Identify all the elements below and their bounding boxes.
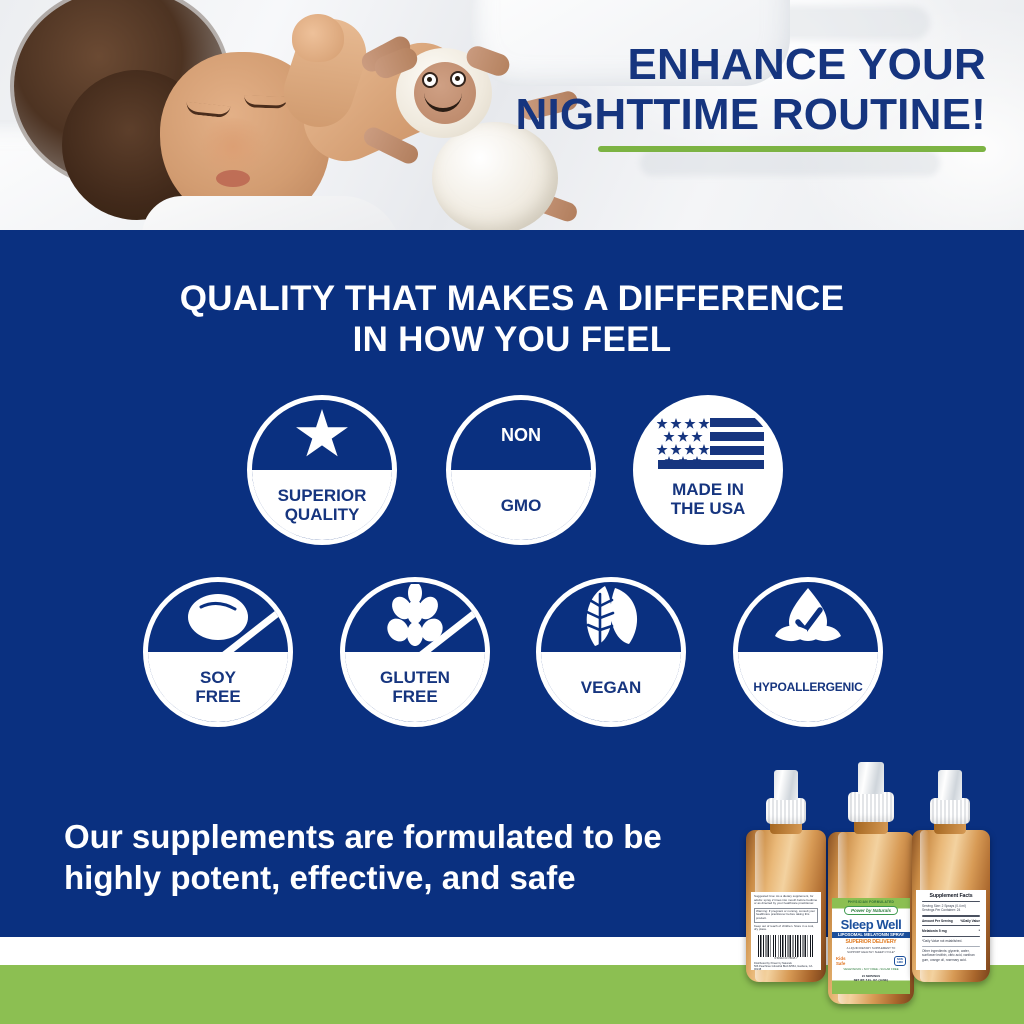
kids-safe-badge: Kids Safe — [836, 956, 846, 966]
panel-title: QUALITY THAT MAKES A DIFFERENCE IN HOW Y… — [0, 278, 1024, 360]
brand-logo-text: Power by Naturals — [845, 908, 897, 913]
badge-icon-area: NON — [451, 400, 591, 470]
bottle-left[interactable]: Suggested Use: As a dietary supplement, … — [746, 830, 826, 982]
child-shirt — [142, 196, 402, 230]
sheep-eye — [450, 71, 466, 87]
product-subtitle: LIPOSOMAL MELATONIN SPRAY — [832, 932, 910, 938]
badge-label: MADE IN THE USA — [638, 480, 778, 518]
badge-icon-area — [541, 582, 681, 652]
badge-label: GMO — [451, 470, 591, 540]
col-dv-header: %Daily Value — [960, 919, 980, 923]
badge-label: HYPOALLERGENIC — [738, 652, 878, 722]
warning-text: Warning: If pregnant or nursing, consult… — [754, 908, 818, 923]
hero-image: ENHANCE YOUR NIGHTTIME ROUTINE! — [0, 0, 1024, 230]
bottle-left-sprayer[interactable] — [774, 770, 798, 800]
storage-text: Keep out of reach of children. Store in … — [754, 925, 818, 932]
child-mouth — [216, 170, 250, 187]
bottle-center[interactable]: PHYSICIAN FORMULATED Power by Naturals S… — [828, 832, 914, 1004]
badge-icon-area — [252, 400, 392, 470]
badge-label-line-1: MADE IN — [638, 480, 778, 499]
headline-line-1: ENHANCE YOUR — [516, 40, 986, 90]
child-hand — [292, 14, 344, 62]
headline-line-2: NIGHTTIME ROUTINE! — [516, 90, 986, 140]
badge-top-text: NON — [501, 425, 541, 446]
droplet-check-icon — [769, 586, 847, 648]
bottle-right-sprayer[interactable] — [938, 770, 962, 800]
badge-label-line-2: THE USA — [638, 499, 778, 518]
badge-made-in-usa[interactable]: MADE IN THE USA — [633, 395, 783, 545]
panel-title-line-1: QUALITY THAT MAKES A DIFFERENCE — [0, 278, 1024, 319]
badge-icon-area — [738, 582, 878, 652]
directions-text: Suggested Use: As a dietary supplement, … — [754, 895, 818, 906]
badge-non-gmo[interactable]: NON GMO — [446, 395, 596, 545]
net-contents-text: NET WT. 5 FL. OZ. (14 ML) — [832, 979, 910, 983]
physician-formulated-banner: PHYSICIAN FORMULATED — [832, 900, 910, 904]
badge-label-line-2: FREE — [195, 687, 240, 706]
other-ingredients-text: Other ingredients: glycerin, water, sunf… — [919, 949, 983, 962]
badge-hypoallergenic[interactable]: HYPOALLERGENIC — [733, 577, 883, 727]
supplement-facts-label: Supplement Facts Serving Size: 2 Sprays … — [916, 890, 986, 970]
product-bottles-group: Suggested Use: As a dietary supplement, … — [740, 762, 990, 1010]
star-icon — [295, 409, 349, 461]
badge-label-line-2: QUALITY — [278, 505, 367, 524]
usa-flag-svg — [652, 416, 764, 474]
bottle-right[interactable]: Supplement Facts Serving Size: 2 Sprays … — [912, 830, 990, 982]
tagline-line-2: highly potent, effective, and safe — [64, 857, 662, 898]
tagline-line-1: Our supplements are formulated to be — [64, 816, 662, 857]
sheet-fold — [640, 150, 940, 176]
headline-accent-rule — [598, 146, 986, 152]
bottle-left-cap[interactable] — [766, 798, 806, 824]
badge-vegan[interactable]: VEGAN — [536, 577, 686, 727]
barcode-number: 6 50310 03 78015 7 — [754, 957, 818, 960]
badge-label: VEGAN — [541, 652, 681, 722]
delivery-text: SUPERIOR DELIVERY — [832, 939, 910, 945]
ingredient-row: Melatonin 5 mg — [922, 929, 947, 933]
col-amount-header: Amount Per Serving — [922, 919, 953, 923]
usa-flag-icon — [638, 414, 778, 476]
hero-headline: ENHANCE YOUR NIGHTTIME ROUTINE! — [516, 40, 986, 152]
badge-label-line-1: SUPERIOR — [278, 486, 367, 505]
left-label: Suggested Use: As a dietary supplement, … — [751, 892, 821, 970]
badge-label: SOY FREE — [148, 652, 288, 722]
product-description: A LIQUID DIETARY SUPPLEMENT TO SUPPORT H… — [844, 947, 898, 954]
product-name: Sleep Well — [832, 918, 910, 931]
badge-label-line-1: GLUTEN — [380, 668, 450, 687]
badge-label-line-1: GMO — [497, 496, 546, 515]
badge-soy-free[interactable]: SOY FREE — [143, 577, 293, 727]
barcode — [758, 935, 814, 957]
leaves-icon — [569, 584, 653, 650]
servings-per-container-text: Servings Per Container: 24 — [919, 908, 983, 912]
badge-label-line-1: HYPOALLERGENIC — [749, 680, 866, 694]
address-text: 506 Peachtree Industrial Blvd #2564, Gar… — [754, 965, 818, 970]
bottle-right-cap[interactable] — [930, 798, 970, 824]
badge-label: SUPERIOR QUALITY — [252, 470, 392, 540]
claims-text: VEGETARIAN • SOY FREE • SUGAR FREE — [832, 968, 910, 972]
badge-gluten-free[interactable]: GLUTEN FREE — [340, 577, 490, 727]
tagline: Our supplements are formulated to be hig… — [64, 816, 662, 898]
front-label: PHYSICIAN FORMULATED Power by Naturals S… — [832, 898, 910, 994]
panel-title-line-2: IN HOW YOU FEEL — [0, 319, 1024, 360]
badge-label-line-2: FREE — [380, 687, 450, 706]
marketing-infographic: ENHANCE YOUR NIGHTTIME ROUTINE! QUALITY … — [0, 0, 1024, 1024]
bottle-center-sprayer[interactable] — [858, 762, 884, 794]
sheep-eye — [422, 72, 438, 88]
badge-label: GLUTEN FREE — [345, 652, 485, 722]
badge-superior-quality[interactable]: SUPERIOR QUALITY — [247, 395, 397, 545]
badge-label-line-1: SOY — [195, 668, 240, 687]
bottle-center-cap[interactable] — [848, 792, 894, 822]
child-cheek — [196, 118, 270, 176]
non-gmo-seal: NON GMO — [894, 956, 906, 966]
footnote-text: *Daily Value not established. — [919, 939, 983, 943]
badge-label-line-1: VEGAN — [577, 678, 645, 697]
supplement-facts-title: Supplement Facts — [919, 893, 983, 899]
